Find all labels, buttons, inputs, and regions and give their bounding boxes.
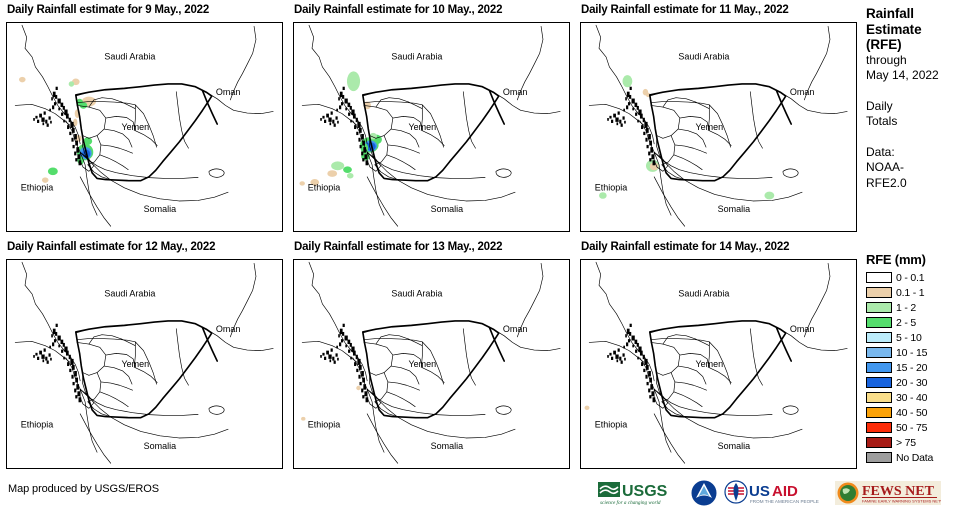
legend-label-7: 20 - 30	[896, 377, 927, 389]
legend-row-8: 30 - 40	[866, 390, 967, 405]
terrain-speckle	[650, 384, 653, 389]
legend-row-1: 0.1 - 1	[866, 285, 967, 300]
fews-net-logo: FEWS NET FAMINE EARLY WARNING SYSTEMS NE…	[835, 479, 941, 507]
country-label-oman: Oman	[216, 87, 240, 97]
terrain-speckle	[66, 114, 69, 119]
yemen-governorate-line	[696, 102, 710, 109]
terrain-speckle	[326, 114, 329, 118]
boundary-somaliaCoast	[654, 152, 802, 201]
terrain-speckle	[649, 158, 651, 161]
terrain-speckle	[320, 118, 322, 121]
legend-swatch-2	[866, 302, 892, 313]
yemen-governorate-line	[100, 155, 128, 170]
rfe-title-line2: Estimate	[866, 22, 967, 38]
terrain-speckle	[635, 350, 637, 353]
terrain-speckle	[37, 357, 39, 360]
legend-row-3: 2 - 5	[866, 315, 967, 330]
terrain-speckle	[649, 378, 652, 383]
terrain-speckle	[39, 351, 42, 355]
terrain-speckle	[343, 324, 345, 327]
legend-rows: 0 - 0.10.1 - 11 - 22 - 55 - 1010 - 1515 …	[866, 270, 967, 465]
rfe-through-label: through	[866, 53, 967, 69]
map-panel-6: Daily Rainfall estimate for 14 May., 202…	[580, 240, 857, 469]
terrain-speckle	[607, 118, 609, 121]
terrain-speckle	[49, 109, 51, 112]
terrain-speckle	[618, 111, 620, 114]
terrain-speckle	[54, 339, 56, 342]
border-yemen	[76, 321, 212, 418]
terrain-speckle	[618, 348, 620, 351]
terrain-speckle	[632, 108, 634, 111]
terrain-speckle	[48, 116, 50, 119]
legend-row-9: 40 - 50	[866, 405, 967, 420]
country-label-oman: Oman	[790, 324, 814, 334]
terrain-speckle	[622, 353, 624, 356]
terrain-speckle	[48, 353, 50, 356]
boundary-somaliaCoast	[654, 389, 802, 438]
agency-logos: USGS science for a changing world US AID…	[598, 478, 941, 508]
terrain-speckle	[363, 384, 366, 389]
terrain-speckle	[58, 108, 60, 111]
terrain-speckle	[345, 108, 347, 111]
maps-grid: Daily Rainfall estimate for 9 May., 2022…	[0, 0, 860, 472]
terrain-speckle	[358, 375, 360, 379]
terrain-speckle	[320, 355, 322, 358]
svg-text:USGS: USGS	[622, 483, 668, 500]
map-credit: Map produced by USGS/EROS	[8, 483, 159, 495]
terrain-speckle	[643, 369, 645, 372]
country-label-yemen: Yemen	[121, 359, 149, 369]
terrain-speckle	[324, 120, 326, 123]
rainfall-cell	[356, 386, 360, 390]
terrain-speckle	[628, 339, 630, 342]
terrain-speckle	[58, 336, 61, 341]
rainfall-cell	[622, 75, 632, 87]
terrain-speckle	[72, 365, 75, 370]
terrain-speckle	[364, 391, 367, 396]
terrain-speckle	[334, 124, 336, 127]
terrain-speckle	[613, 114, 616, 118]
country-labels: Saudi ArabiaOmanYemenEthiopiaSomalia	[595, 289, 815, 451]
terrain-speckle	[611, 120, 613, 123]
info-spacer-2	[866, 130, 967, 145]
terrain-speckle	[41, 117, 44, 121]
terrain-speckle	[56, 324, 58, 327]
terrain-speckle	[640, 114, 643, 119]
terrain-speckle	[640, 351, 643, 356]
terrain-speckle	[644, 122, 647, 128]
terrain-speckle	[44, 348, 46, 351]
map-panel-title-2: Daily Rainfall estimate for 10 May., 202…	[294, 3, 570, 17]
terrain-speckle	[328, 117, 331, 121]
boundary-arabiaCoast	[76, 84, 273, 114]
terrain-speckle	[343, 87, 345, 90]
border-yemen	[363, 321, 499, 418]
border-yemen	[650, 84, 786, 181]
legend-label-12: No Data	[896, 452, 933, 464]
yemen-governorate-line	[675, 382, 707, 390]
map-panel-2: Daily Rainfall estimate for 10 May., 202…	[293, 3, 570, 232]
terrain-speckle	[336, 109, 338, 112]
legend-row-2: 1 - 2	[866, 300, 967, 315]
legend-swatch-10	[866, 422, 892, 433]
national-borders	[363, 321, 504, 418]
yemen-governorate-line	[387, 392, 415, 407]
terrain-speckle	[643, 118, 645, 122]
rainfall-cell	[764, 192, 774, 200]
country-label-ethiopia: Ethiopia	[595, 420, 628, 430]
svg-text:US: US	[749, 483, 770, 500]
terrain-speckle	[342, 95, 344, 99]
country-label-yemen: Yemen	[695, 359, 723, 369]
terrain-speckle	[356, 118, 358, 122]
terrain-speckle	[328, 354, 331, 358]
terrain-speckle	[626, 342, 628, 346]
terrain-speckle	[70, 359, 73, 365]
legend-swatch-8	[866, 392, 892, 403]
terrain-speckle	[63, 106, 65, 110]
terrain-speckle	[632, 336, 635, 341]
terrain-speckle	[329, 122, 331, 125]
boundary-socotra	[783, 169, 798, 177]
terrain-speckle	[644, 359, 647, 365]
border-yemen	[363, 84, 499, 181]
terrain-speckle	[56, 87, 58, 90]
terrain-speckle	[42, 359, 44, 362]
legend-swatch-3	[866, 317, 892, 328]
terrain-speckle	[653, 160, 656, 165]
terrain-speckle	[341, 339, 343, 342]
terrain-speckle	[49, 346, 51, 349]
terrain-speckle	[67, 362, 69, 366]
terrain-speckle	[643, 132, 645, 135]
terrain-speckle	[50, 358, 52, 361]
terrain-speckle	[623, 346, 625, 349]
terrain-speckle	[366, 397, 369, 402]
svg-text:FROM THE AMERICAN PEOPLE: FROM THE AMERICAN PEOPLE	[750, 499, 819, 504]
terrain-speckle	[51, 334, 53, 337]
terrain-speckle	[66, 351, 69, 356]
yemen-governorate-line	[77, 342, 106, 375]
terrain-speckle	[629, 95, 631, 99]
terrain-speckle	[61, 350, 63, 353]
terrain-speckle	[607, 355, 609, 358]
map-canvas-4: Saudi ArabiaOmanYemenEthiopiaSomalia	[7, 260, 280, 466]
terrain-speckle	[35, 353, 37, 356]
terrain-speckle	[649, 395, 651, 398]
terrain-speckle	[356, 369, 358, 372]
rainfall-cell	[347, 173, 354, 178]
terrain-speckle	[360, 145, 362, 148]
terrain-speckle	[45, 120, 47, 124]
terrain-speckle	[645, 375, 647, 379]
terrain-speckle	[366, 160, 369, 165]
terrain-speckle	[52, 105, 54, 109]
map-canvas-6: Saudi ArabiaOmanYemenEthiopiaSomalia	[581, 260, 854, 466]
terrain-speckle	[651, 391, 654, 396]
boundary-omanInner	[750, 92, 762, 149]
usgs-logo: USGS science for a changing world	[598, 479, 684, 507]
terrain-speckle	[342, 332, 344, 336]
boundary-omanInner	[463, 92, 475, 149]
rfe-title-line1: Rainfall	[866, 6, 967, 22]
terrain-speckle	[79, 160, 82, 165]
country-labels: Saudi ArabiaOmanYemenEthiopiaSomalia	[308, 52, 528, 214]
terrain-speckle	[334, 361, 336, 364]
rainfall-layer	[301, 386, 361, 421]
yemen-governorate-line	[100, 392, 128, 407]
country-label-saudi-arabia: Saudi Arabia	[391, 52, 443, 62]
terrain-speckle	[63, 357, 65, 360]
terrain-speckle	[336, 346, 338, 349]
terrain-speckle	[58, 99, 61, 104]
country-label-somalia: Somalia	[718, 441, 751, 451]
legend-label-8: 30 - 40	[896, 392, 927, 404]
terrain-speckle	[37, 120, 39, 123]
terrain-speckle	[331, 111, 333, 114]
map-panel-title-5: Daily Rainfall estimate for 13 May., 202…	[294, 240, 570, 254]
terrain-speckle	[345, 336, 348, 341]
terrain-speckle	[69, 132, 71, 135]
terrain-speckle	[44, 111, 46, 114]
terrain-speckle	[74, 134, 77, 139]
terrain-speckle	[356, 355, 358, 359]
rfe-data-line1: Data:	[866, 145, 967, 161]
terrain-speckle	[358, 138, 360, 142]
terrain-speckle	[69, 118, 71, 122]
terrain-speckle	[615, 117, 618, 121]
terrain-speckle	[79, 397, 82, 402]
terrain-speckle	[616, 359, 618, 362]
terrain-speckle	[324, 357, 326, 360]
country-label-ethiopia: Ethiopia	[595, 183, 628, 193]
yemen-governorate-line	[77, 105, 106, 138]
terrain-speckle	[648, 152, 650, 156]
map-panel-title-4: Daily Rainfall estimate for 12 May., 202…	[7, 240, 283, 254]
yemen-governorate-line	[696, 339, 710, 346]
map-panel-title-3: Daily Rainfall estimate for 11 May., 202…	[581, 3, 857, 17]
rainfall-cell	[585, 406, 590, 410]
terrain-speckle	[361, 371, 364, 376]
terrain-speckle	[361, 134, 364, 139]
country-label-oman: Oman	[790, 87, 814, 97]
terrain-speckle	[632, 99, 635, 104]
legend-swatch-1	[866, 287, 892, 298]
map-frame-5: Saudi ArabiaOmanYemenEthiopiaSomalia	[293, 259, 570, 469]
national-borders	[363, 84, 504, 181]
map-frame-4: Saudi ArabiaOmanYemenEthiopiaSomalia	[6, 259, 283, 469]
terrain-speckle	[637, 106, 639, 110]
legend-label-4: 5 - 10	[896, 332, 922, 344]
country-label-somalia: Somalia	[718, 204, 751, 214]
country-label-yemen: Yemen	[695, 122, 723, 132]
rainfall-cell	[48, 167, 58, 175]
rfe-totals-line2: Totals	[866, 114, 967, 130]
boundary-omanInner	[176, 329, 188, 386]
terrain-speckle	[76, 147, 79, 152]
terrain-speckle	[609, 116, 611, 119]
terrain-speckle	[643, 355, 645, 359]
boundary-somaliaSouth	[80, 414, 111, 463]
terrain-speckle	[332, 120, 334, 124]
terrain-speckle	[54, 102, 56, 105]
terrain-speckle	[650, 147, 653, 152]
rainfall-layer	[299, 71, 381, 185]
terrain-speckle	[616, 122, 618, 125]
terrain-speckle	[629, 332, 631, 336]
terrain-speckle	[648, 134, 651, 139]
rainfall-cell	[301, 417, 305, 421]
boundary-socotra	[209, 169, 224, 177]
noaa-logo	[691, 479, 717, 507]
terrain-speckle	[341, 102, 343, 105]
terrain-speckle	[74, 152, 76, 156]
rfe-title-line3: (RFE)	[866, 37, 967, 53]
terrain-speckle	[350, 343, 352, 347]
terrain-speckle	[45, 357, 47, 361]
terrain-speckle	[345, 99, 348, 104]
country-labels: Saudi ArabiaOmanYemenEthiopiaSomalia	[308, 289, 528, 451]
legend-swatch-12	[866, 452, 892, 463]
country-label-oman: Oman	[503, 87, 527, 97]
terrain-speckle	[335, 116, 337, 119]
terrain-speckle	[637, 357, 639, 360]
terrain-speckle	[348, 113, 350, 116]
terrain-speckle	[77, 391, 80, 396]
boundary-socotra	[209, 406, 224, 414]
country-labels: Saudi ArabiaOmanYemenEthiopiaSomalia	[21, 52, 241, 214]
boundary-somaliaCoast	[80, 152, 228, 201]
terrain-speckle	[359, 128, 362, 133]
terrain-speckle	[75, 378, 78, 383]
country-label-somalia: Somalia	[431, 441, 464, 451]
legend-row-10: 50 - 75	[866, 420, 967, 435]
legend-label-10: 50 - 75	[896, 422, 927, 434]
terrain-speckle	[621, 361, 623, 364]
legend-label-3: 2 - 5	[896, 317, 916, 329]
country-label-saudi-arabia: Saudi Arabia	[391, 289, 443, 299]
terrain-speckle	[647, 145, 649, 148]
boundary-somaliaCoast	[367, 152, 515, 201]
terrain-speckle	[70, 122, 73, 128]
terrain-speckle	[353, 351, 356, 356]
rfe-info-panel: Rainfall Estimate (RFE) through May 14, …	[866, 6, 967, 191]
map-panel-3: Daily Rainfall estimate for 11 May., 202…	[580, 3, 857, 232]
terrain-speckle	[641, 362, 643, 366]
map-frame-1: Saudi ArabiaOmanYemenEthiopiaSomalia	[6, 22, 283, 232]
terrain-speckle	[322, 116, 324, 119]
boundary-somaliaCoast	[367, 389, 515, 438]
terrain-speckle	[74, 389, 76, 393]
terrain-speckle	[331, 348, 333, 351]
map-panel-4: Daily Rainfall estimate for 12 May., 202…	[6, 240, 283, 469]
yemen-governorate-line	[388, 145, 420, 153]
legend-swatch-6	[866, 362, 892, 373]
national-borders	[76, 321, 217, 418]
terrain-speckle	[42, 122, 44, 125]
terrain-speckle	[75, 395, 77, 398]
boundary-omanInner	[750, 329, 762, 386]
country-label-saudi-arabia: Saudi Arabia	[104, 52, 156, 62]
yemen-governorate-line	[364, 105, 393, 138]
map-canvas-1: Saudi ArabiaOmanYemenEthiopiaSomalia	[7, 23, 280, 229]
map-panel-title-6: Daily Rainfall estimate for 14 May., 202…	[581, 240, 857, 254]
rfe-through-date: May 14, 2022	[866, 68, 967, 84]
national-borders	[76, 84, 217, 181]
legend-swatch-11	[866, 437, 892, 448]
terrain-speckle	[348, 350, 350, 353]
map-panel-title-1: Daily Rainfall estimate for 9 May., 2022	[7, 3, 283, 17]
rfe-legend: RFE (mm) 0 - 0.10.1 - 11 - 22 - 55 - 101…	[866, 252, 967, 465]
terrain-speckle	[363, 147, 366, 152]
yemen-governorate-line	[101, 145, 133, 153]
legend-swatch-5	[866, 347, 892, 358]
svg-text:FEWS NET: FEWS NET	[862, 484, 935, 499]
terrain-speckle	[332, 357, 334, 361]
terrain-speckle	[637, 343, 639, 347]
yemen-governorate-line	[122, 102, 136, 109]
yemen-governorate-line	[409, 339, 423, 346]
rfe-totals-line1: Daily	[866, 99, 967, 115]
yemen-governorate-line	[675, 145, 707, 153]
legend-row-0: 0 - 0.1	[866, 270, 967, 285]
national-borders	[650, 84, 791, 181]
terrain-speckle	[69, 355, 71, 359]
terrain-speckle	[63, 120, 65, 123]
terrain-speckle	[329, 359, 331, 362]
terrain-speckle	[613, 351, 616, 355]
svg-text:AID: AID	[772, 483, 798, 500]
terrain-speckle	[615, 354, 618, 358]
rainfall-cell	[343, 166, 352, 173]
terrain-speckle	[353, 114, 356, 119]
legend-row-4: 5 - 10	[866, 330, 967, 345]
boundary-omanInner	[463, 329, 475, 386]
terrain-speckle	[55, 95, 57, 99]
legend-row-5: 10 - 15	[866, 345, 967, 360]
map-canvas-3: Saudi ArabiaOmanYemenEthiopiaSomalia	[581, 23, 854, 229]
terrain-speckle	[50, 121, 52, 124]
terrain-speckle	[362, 378, 365, 383]
country-label-saudi-arabia: Saudi Arabia	[678, 289, 730, 299]
country-label-somalia: Somalia	[431, 204, 464, 214]
terrain-speckle	[632, 345, 634, 348]
terrain-speckle	[624, 358, 626, 361]
terrain-speckle	[350, 106, 352, 110]
boundary-arabiaCoast	[650, 321, 847, 351]
terrain-speckle	[47, 361, 49, 364]
terrain-speckle	[350, 357, 352, 360]
rainfall-cell	[299, 181, 304, 185]
terrain-speckle	[51, 97, 53, 100]
terrain-speckle	[350, 120, 352, 123]
terrain-speckle	[73, 382, 75, 385]
terrain-speckle	[77, 154, 80, 159]
map-frame-6: Saudi ArabiaOmanYemenEthiopiaSomalia	[580, 259, 857, 469]
border-yemen	[76, 84, 212, 181]
yemen-governorate-line	[674, 392, 702, 407]
rfe-data-line3: RFE2.0	[866, 176, 967, 192]
usaid-logo: US AID FROM THE AMERICAN PEOPLE	[724, 479, 828, 507]
terrain-speckle	[624, 121, 626, 124]
country-label-yemen: Yemen	[408, 122, 436, 132]
terrain-speckle	[354, 362, 356, 366]
svg-text:FAMINE EARLY WARNING SYSTEMS N: FAMINE EARLY WARNING SYSTEMS NETWORK	[862, 499, 941, 504]
terrain-speckle	[326, 351, 329, 355]
terrain-speckle	[611, 357, 613, 360]
boundary-somaliaSouth	[654, 177, 685, 226]
boundary-socotra	[496, 406, 511, 414]
